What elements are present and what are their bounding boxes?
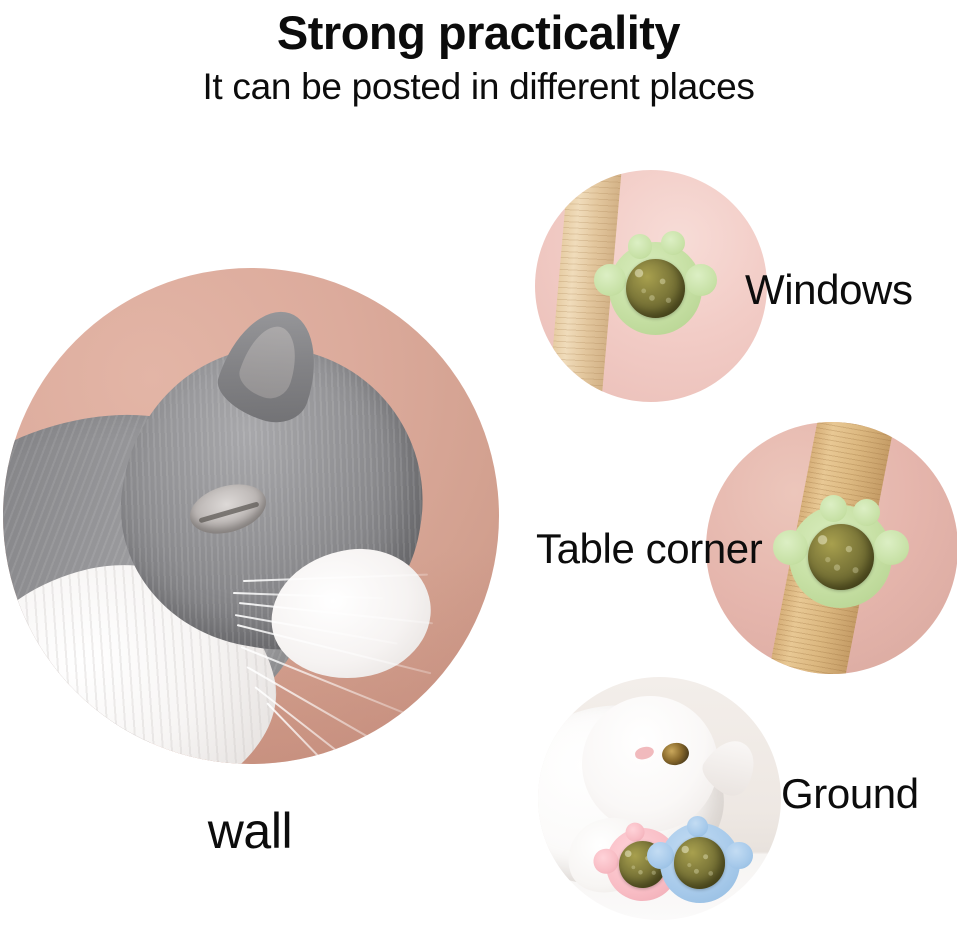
toy-nub-top — [687, 816, 708, 837]
scene-photo-wall — [3, 268, 499, 764]
catnip-ball — [674, 837, 725, 888]
scene-photo-windows — [535, 170, 767, 402]
scene-label-wall: wall — [0, 806, 500, 856]
scene-label-table-corner: Table corner — [536, 528, 762, 570]
heading-block: Strong practicality It can be posted in … — [0, 0, 957, 110]
cat-whiskers — [233, 568, 499, 764]
page-title: Strong practicality — [0, 0, 957, 57]
catnip-ball-toy-windows — [609, 242, 702, 335]
catnip-ball-toy-blue — [660, 823, 740, 903]
catnip-ball-toy-table-corner — [789, 505, 892, 608]
catnip-ball — [626, 259, 685, 318]
scene-photo-ground — [538, 677, 781, 920]
catnip-ball — [808, 524, 874, 590]
toy-nub-top-right — [853, 499, 880, 526]
scene-label-windows: Windows — [745, 269, 913, 311]
page-subtitle: It can be posted in different places — [0, 57, 957, 109]
scene-label-ground: Ground — [781, 773, 919, 815]
toy-nub-top-left — [820, 495, 847, 522]
toy-nub-top-left — [628, 234, 652, 258]
